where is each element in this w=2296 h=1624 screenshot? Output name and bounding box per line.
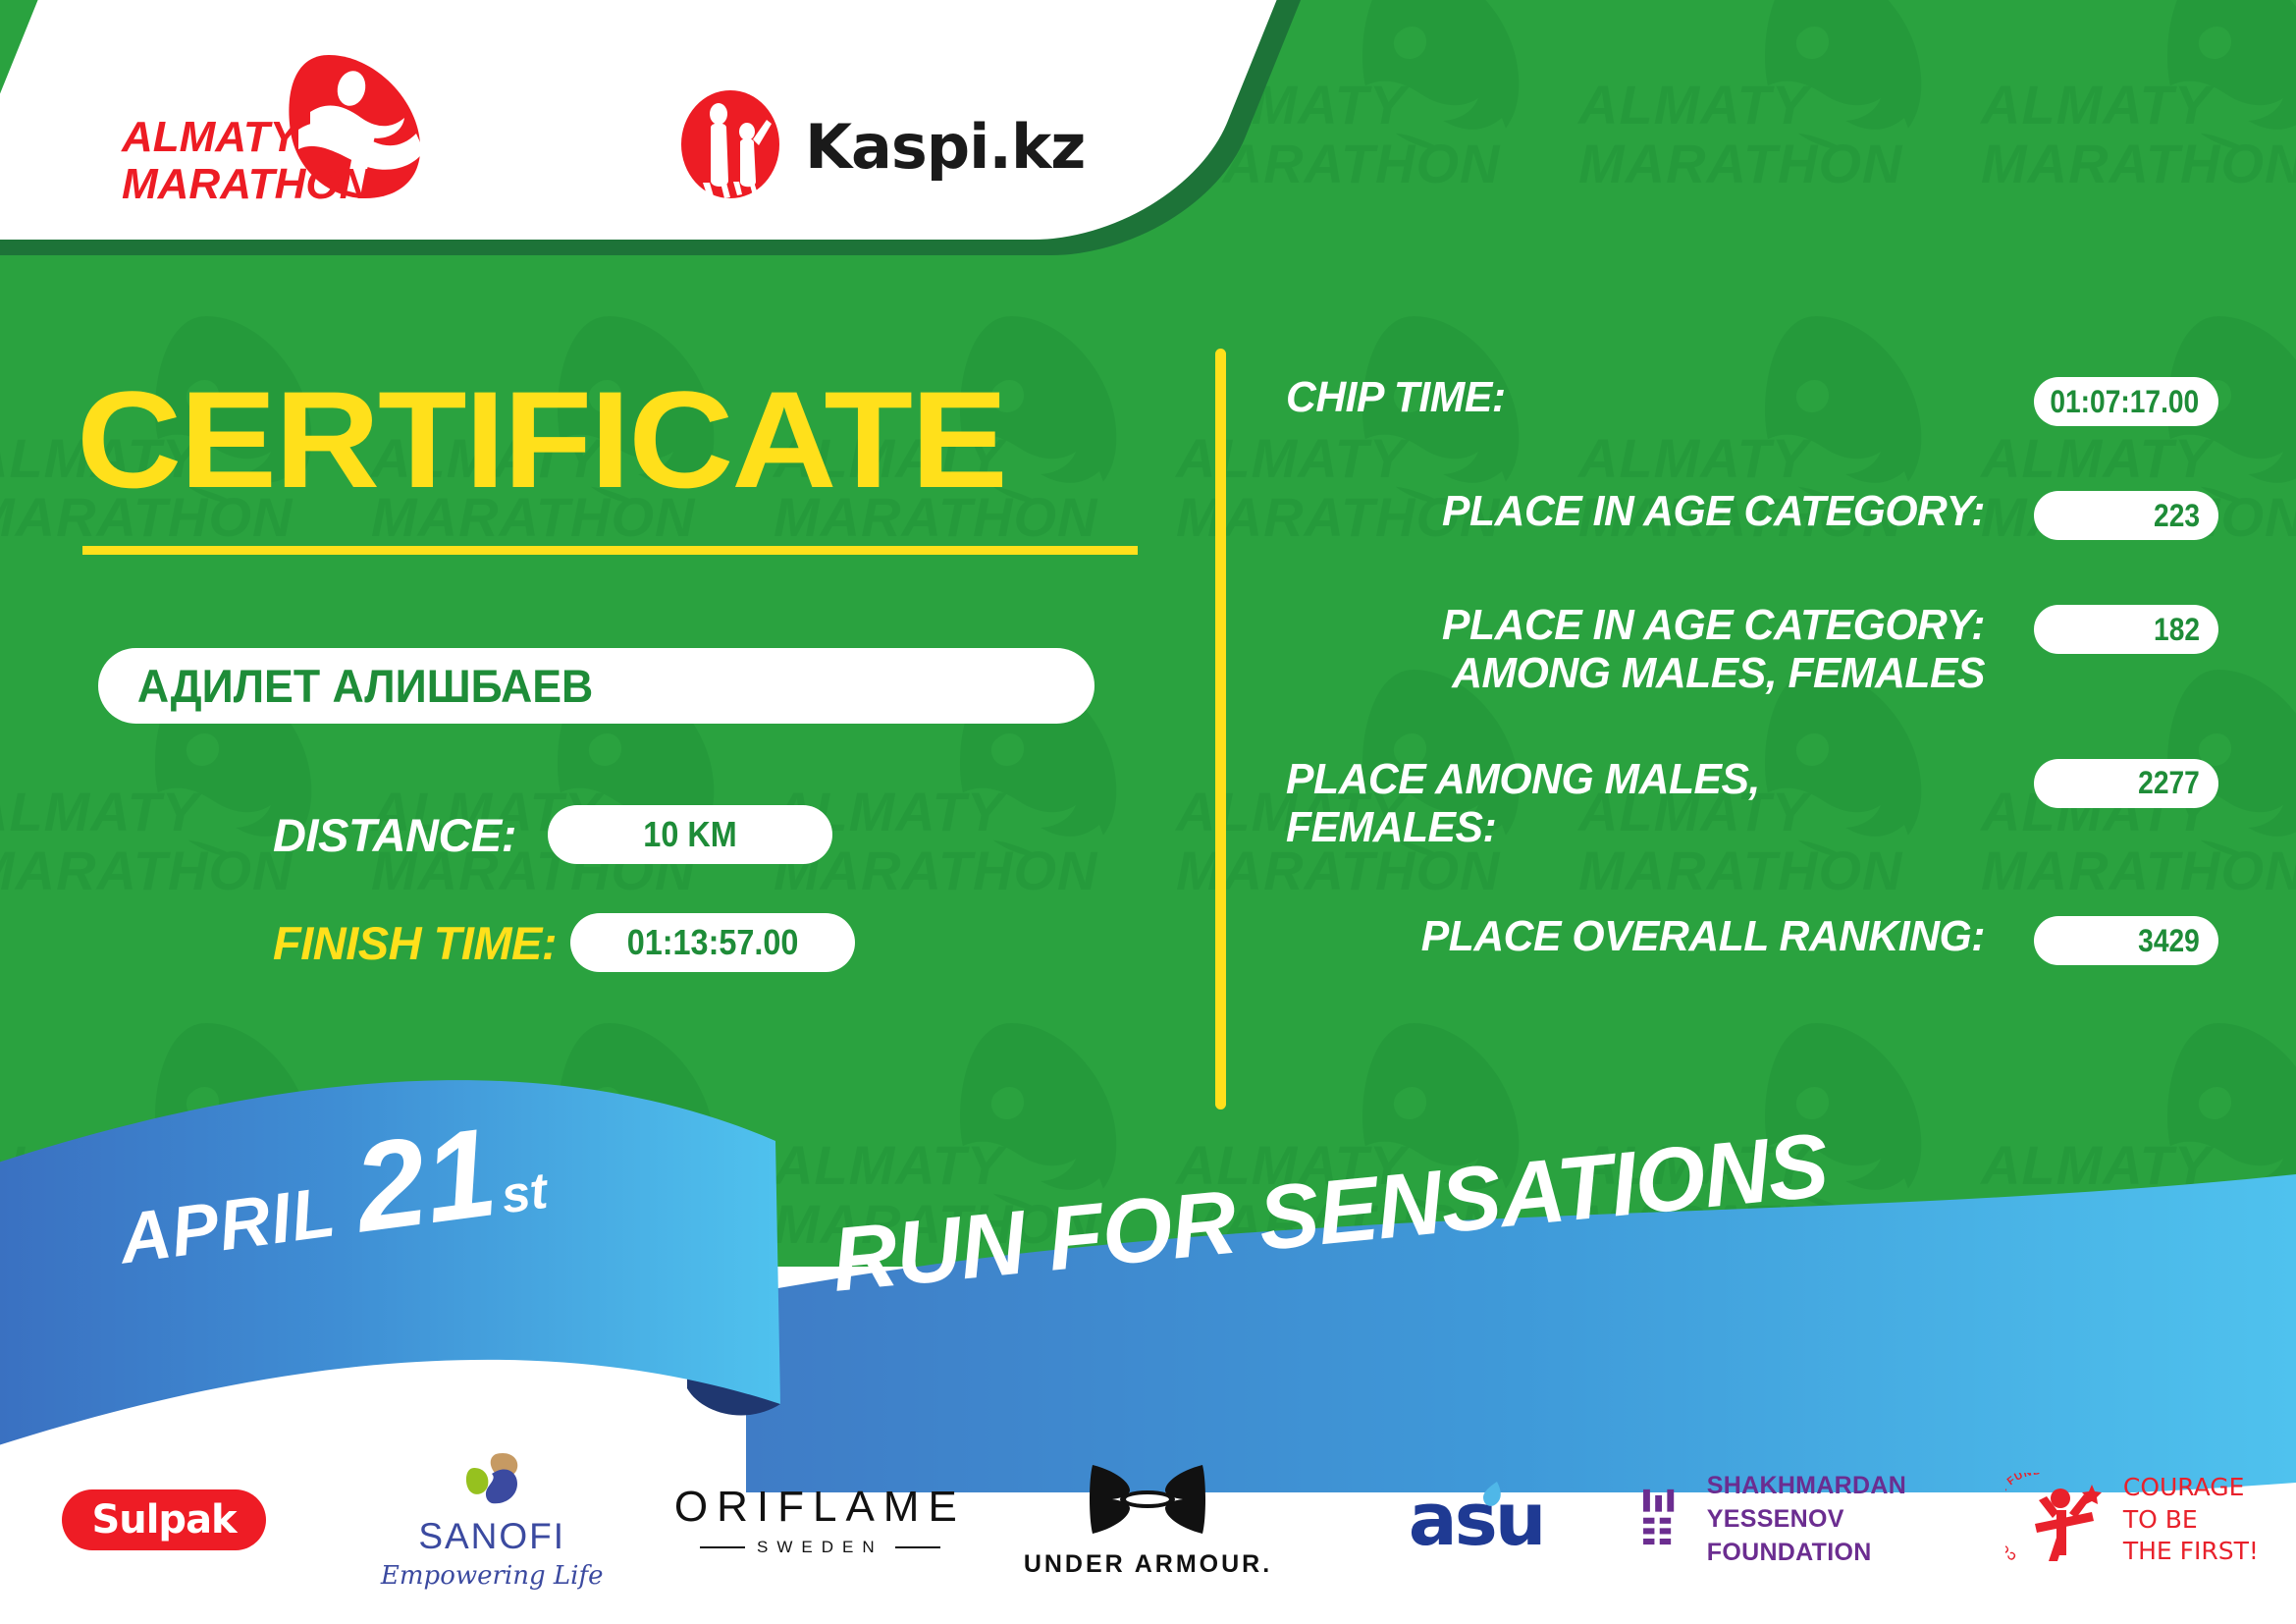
stat-label-place-overall: PLACE OVERALL RANKING:	[1286, 912, 2011, 960]
yessenov-mark-icon	[1640, 1480, 1683, 1560]
page-title: CERTIFICATE	[77, 371, 1221, 509]
kaspi-logo: Kaspi.kz	[677, 88, 1085, 204]
sponsor-asu: asu	[1312, 1432, 1640, 1608]
sanofi-mark-icon	[453, 1450, 531, 1507]
asu-logo-text: asu	[1409, 1478, 1544, 1562]
finish-time-row: FINISH TIME: 01:13:57.00	[273, 913, 855, 972]
athlete-name-value: АДИЛЕТ АЛИШБАЕВ	[98, 659, 593, 713]
ribbon-day-suffix: st	[498, 1162, 551, 1226]
stat-value-place-overall: 3429	[2138, 923, 2218, 959]
title-underline	[82, 546, 1138, 555]
stat-row-place-overall: PLACE OVERALL RANKING: 3429	[1286, 912, 2218, 965]
distance-value-pill: 10 KM	[548, 805, 832, 864]
title-block: CERTIFICATE	[77, 371, 1156, 555]
sponsor-courage: CORPORATE FUND COURAGE TO BE	[1968, 1432, 2296, 1608]
courage-arc-text: CORPORATE FUND	[2005, 1473, 2042, 1562]
athlete-name-field: АДИЛЕТ АЛИШБАЕВ	[98, 648, 1095, 724]
finish-time-value: 01:13:57.00	[627, 922, 799, 963]
sanofi-logo: SANOFI Empowering Life	[381, 1450, 604, 1591]
under-armour-mark-icon	[1087, 1461, 1208, 1538]
oriflame-tagline-row: SWEDEN	[674, 1538, 966, 1557]
courage-child-icon: CORPORATE FUND	[2005, 1473, 2108, 1567]
stats-list: CHIP TIME: 01:07:17.00 PLACE IN AGE CATE…	[1286, 373, 2218, 965]
asu-droplet-icon	[1479, 1480, 1505, 1513]
almaty-logo-line2: MARATHON	[122, 160, 372, 203]
distance-value: 10 KM	[643, 814, 736, 855]
certificate-page: ALMATY MARATHON ALMATY MARATHON	[0, 0, 2296, 1624]
stat-label-place-age-category: PLACE IN AGE CATEGORY:	[1286, 487, 2011, 535]
stat-row-place-age-category: PLACE IN AGE CATEGORY: 223	[1286, 487, 2218, 540]
stat-label-chip-time: CHIP TIME:	[1286, 373, 2011, 421]
courage-line3: THE FIRST!	[2123, 1536, 2259, 1568]
stat-row-chip-time: CHIP TIME: 01:07:17.00	[1286, 373, 2218, 426]
oriflame-logo-text: ORIFLAME	[674, 1483, 966, 1532]
sulpak-logo: Sulpak	[62, 1489, 266, 1550]
stat-pill-chip-time: 01:07:17.00	[2034, 377, 2218, 426]
under-armour-logo: UNDER ARMOUR.	[1024, 1461, 1272, 1579]
finish-time-value-pill: 01:13:57.00	[570, 913, 855, 972]
distance-label: DISTANCE:	[273, 808, 516, 862]
kaspi-people-icon	[677, 88, 783, 204]
sponsor-under-armour: UNDER ARMOUR.	[984, 1432, 1311, 1608]
stat-value-place-age-category: 223	[2154, 498, 2218, 534]
stat-value-place-age-category-gender: 182	[2154, 612, 2218, 648]
sponsor-sanofi: SANOFI Empowering Life	[328, 1432, 656, 1608]
yessenov-line2: FOUNDATION	[1707, 1537, 1968, 1570]
sponsor-yessenov: SHAKHMARDAN YESSENOV FOUNDATION	[1640, 1432, 1968, 1608]
oriflame-logo: ORIFLAME SWEDEN	[674, 1483, 966, 1557]
sanofi-tagline: Empowering Life	[381, 1561, 604, 1591]
courage-line1: COURAGE	[2123, 1472, 2259, 1504]
yessenov-logo-text: SHAKHMARDAN YESSENOV FOUNDATION	[1707, 1470, 1968, 1569]
svg-text:CORPORATE FUND: CORPORATE FUND	[2005, 1473, 2042, 1562]
oriflame-rule-right	[895, 1546, 940, 1548]
under-armour-logo-text: UNDER ARMOUR.	[1024, 1550, 1272, 1579]
sanofi-logo-text: SANOFI	[381, 1516, 604, 1557]
sponsor-sulpak: Sulpak	[0, 1432, 328, 1608]
sponsor-oriflame: ORIFLAME SWEDEN	[656, 1432, 984, 1608]
stat-pill-place-among-gender: 2277	[2034, 759, 2218, 808]
stat-pill-place-overall: 3429	[2034, 916, 2218, 965]
sponsor-row: Sulpak SANOFI Empowering Life ORIFLAME S…	[0, 1432, 2296, 1608]
almaty-logo-line1: ALMATY	[121, 113, 302, 161]
stat-row-place-among-gender: PLACE AMONG MALES, FEMALES: 2277	[1286, 755, 2218, 852]
courage-logo-text: COURAGE TO BE THE FIRST!	[2123, 1472, 2259, 1568]
stat-row-place-age-category-gender: PLACE IN AGE CATEGORY: AMONG MALES, FEMA…	[1286, 601, 2218, 698]
kaspi-logo-text: Kaspi.kz	[805, 111, 1085, 183]
yessenov-logo: SHAKHMARDAN YESSENOV FOUNDATION	[1640, 1470, 1968, 1569]
courage-logo: CORPORATE FUND COURAGE TO BE	[2005, 1472, 2259, 1568]
ribbon-day: 21	[348, 1115, 502, 1246]
stat-pill-place-age-category-gender: 182	[2034, 605, 2218, 654]
stat-value-place-among-gender: 2277	[2138, 765, 2218, 801]
yessenov-line1: SHAKHMARDAN YESSENOV	[1707, 1470, 1968, 1537]
almaty-marathon-logo: ALMATY MARATHON	[118, 51, 442, 203]
finish-time-label: FINISH TIME:	[273, 916, 557, 970]
courage-line2: TO BE	[2123, 1504, 2259, 1537]
stat-value-chip-time: 01:07:17.00	[2051, 384, 2218, 420]
stat-label-place-age-category-gender: PLACE IN AGE CATEGORY: AMONG MALES, FEMA…	[1286, 601, 2011, 698]
oriflame-rule-left	[700, 1546, 745, 1548]
oriflame-tagline: SWEDEN	[757, 1538, 883, 1557]
stat-label-place-among-gender: PLACE AMONG MALES, FEMALES:	[1286, 755, 2011, 852]
stat-pill-place-age-category: 223	[2034, 491, 2218, 540]
asu-logo: asu	[1409, 1478, 1544, 1562]
distance-row: DISTANCE: 10 KM	[273, 805, 832, 864]
sulpak-logo-text: Sulpak	[91, 1497, 236, 1543]
